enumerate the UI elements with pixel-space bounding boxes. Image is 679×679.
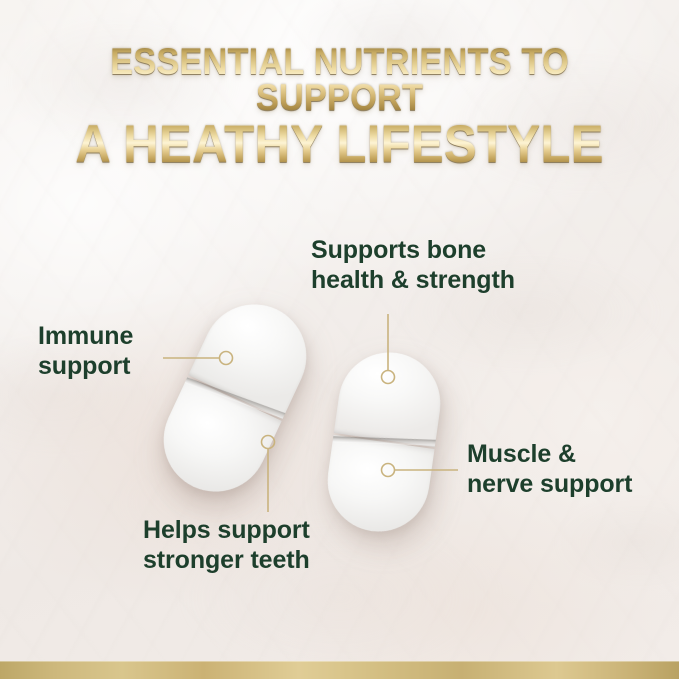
infographic-canvas: ESSENTIAL NUTRIENTS TO SUPPORT A HEATHY … xyxy=(0,0,679,679)
callout-bone-health: Supports bone health & strength xyxy=(311,236,515,295)
callout-immune-support: Immune support xyxy=(38,322,133,381)
headline-line-1: ESSENTIAL NUTRIENTS TO SUPPORT xyxy=(24,44,655,117)
bottom-gold-bar xyxy=(0,661,679,679)
headline-block: ESSENTIAL NUTRIENTS TO SUPPORT A HEATHY … xyxy=(0,44,679,170)
headline-line-2: A HEATHY LIFESTYLE xyxy=(24,119,655,171)
callout-stronger-teeth: Helps support stronger teeth xyxy=(143,516,310,575)
callout-muscle-nerve: Muscle & nerve support xyxy=(467,440,632,499)
